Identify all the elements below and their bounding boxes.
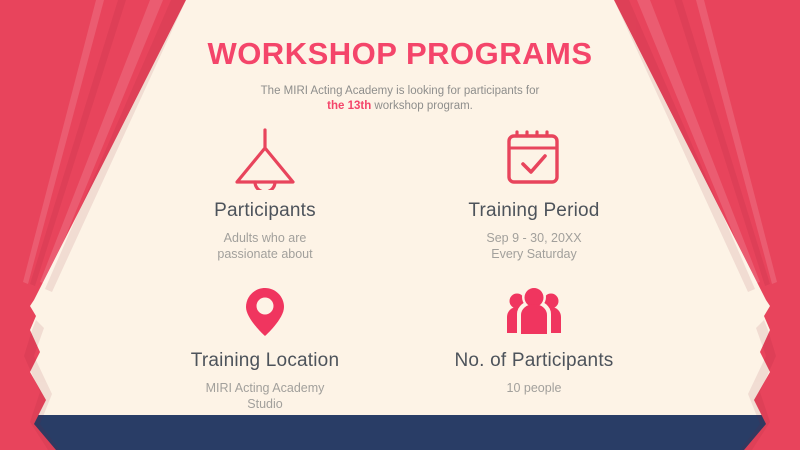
page-title: WORKSHOP PROGRAMS <box>0 36 800 72</box>
card-description: MIRI Acting Academy Studio <box>135 380 395 412</box>
poster-canvas: WORKSHOP PROGRAMS The MIRI Acting Academ… <box>0 0 800 450</box>
card-desc-line-2: passionate about <box>217 247 312 261</box>
card-desc-line-2: Studio <box>247 397 282 411</box>
subtitle-highlight: the 13th <box>327 100 371 112</box>
calendar-check-icon <box>501 128 567 190</box>
stage-lamp-icon <box>227 128 303 190</box>
card-desc-line-1: 10 people <box>507 381 562 395</box>
map-pin-icon <box>240 284 290 340</box>
card-desc-line-2: Every Saturday <box>491 247 576 261</box>
card-description: Sep 9 - 30, 20XX Every Saturday <box>404 230 664 262</box>
card-desc-line-1: MIRI Acting Academy <box>206 381 325 395</box>
card-desc-line-1: Sep 9 - 30, 20XX <box>486 231 581 245</box>
card-title: Training Location <box>135 350 395 372</box>
card-description: 10 people <box>404 380 664 396</box>
card-icon-wrap <box>404 278 664 340</box>
card-icon-wrap <box>404 128 664 190</box>
page-subtitle: The MIRI Acting Academy is looking for p… <box>0 84 800 114</box>
card-title: Training Period <box>404 200 664 222</box>
card-participant-count: No. of Participants 10 people <box>404 278 664 396</box>
card-desc-line-1: Adults who are <box>224 231 307 245</box>
card-icon-wrap <box>135 278 395 340</box>
card-training-location: Training Location MIRI Acting Academy St… <box>135 278 395 412</box>
card-training-period: Training Period Sep 9 - 30, 20XX Every S… <box>404 128 664 262</box>
subtitle-line-1: The MIRI Acting Academy is looking for p… <box>261 85 540 97</box>
subtitle-line-2: workshop program. <box>371 100 473 112</box>
card-title: No. of Participants <box>404 350 664 372</box>
card-icon-wrap <box>135 128 395 190</box>
card-title: Participants <box>135 200 395 222</box>
card-description: Adults who are passionate about <box>135 230 395 262</box>
people-group-icon <box>503 284 565 340</box>
card-participants: Participants Adults who are passionate a… <box>135 128 395 262</box>
